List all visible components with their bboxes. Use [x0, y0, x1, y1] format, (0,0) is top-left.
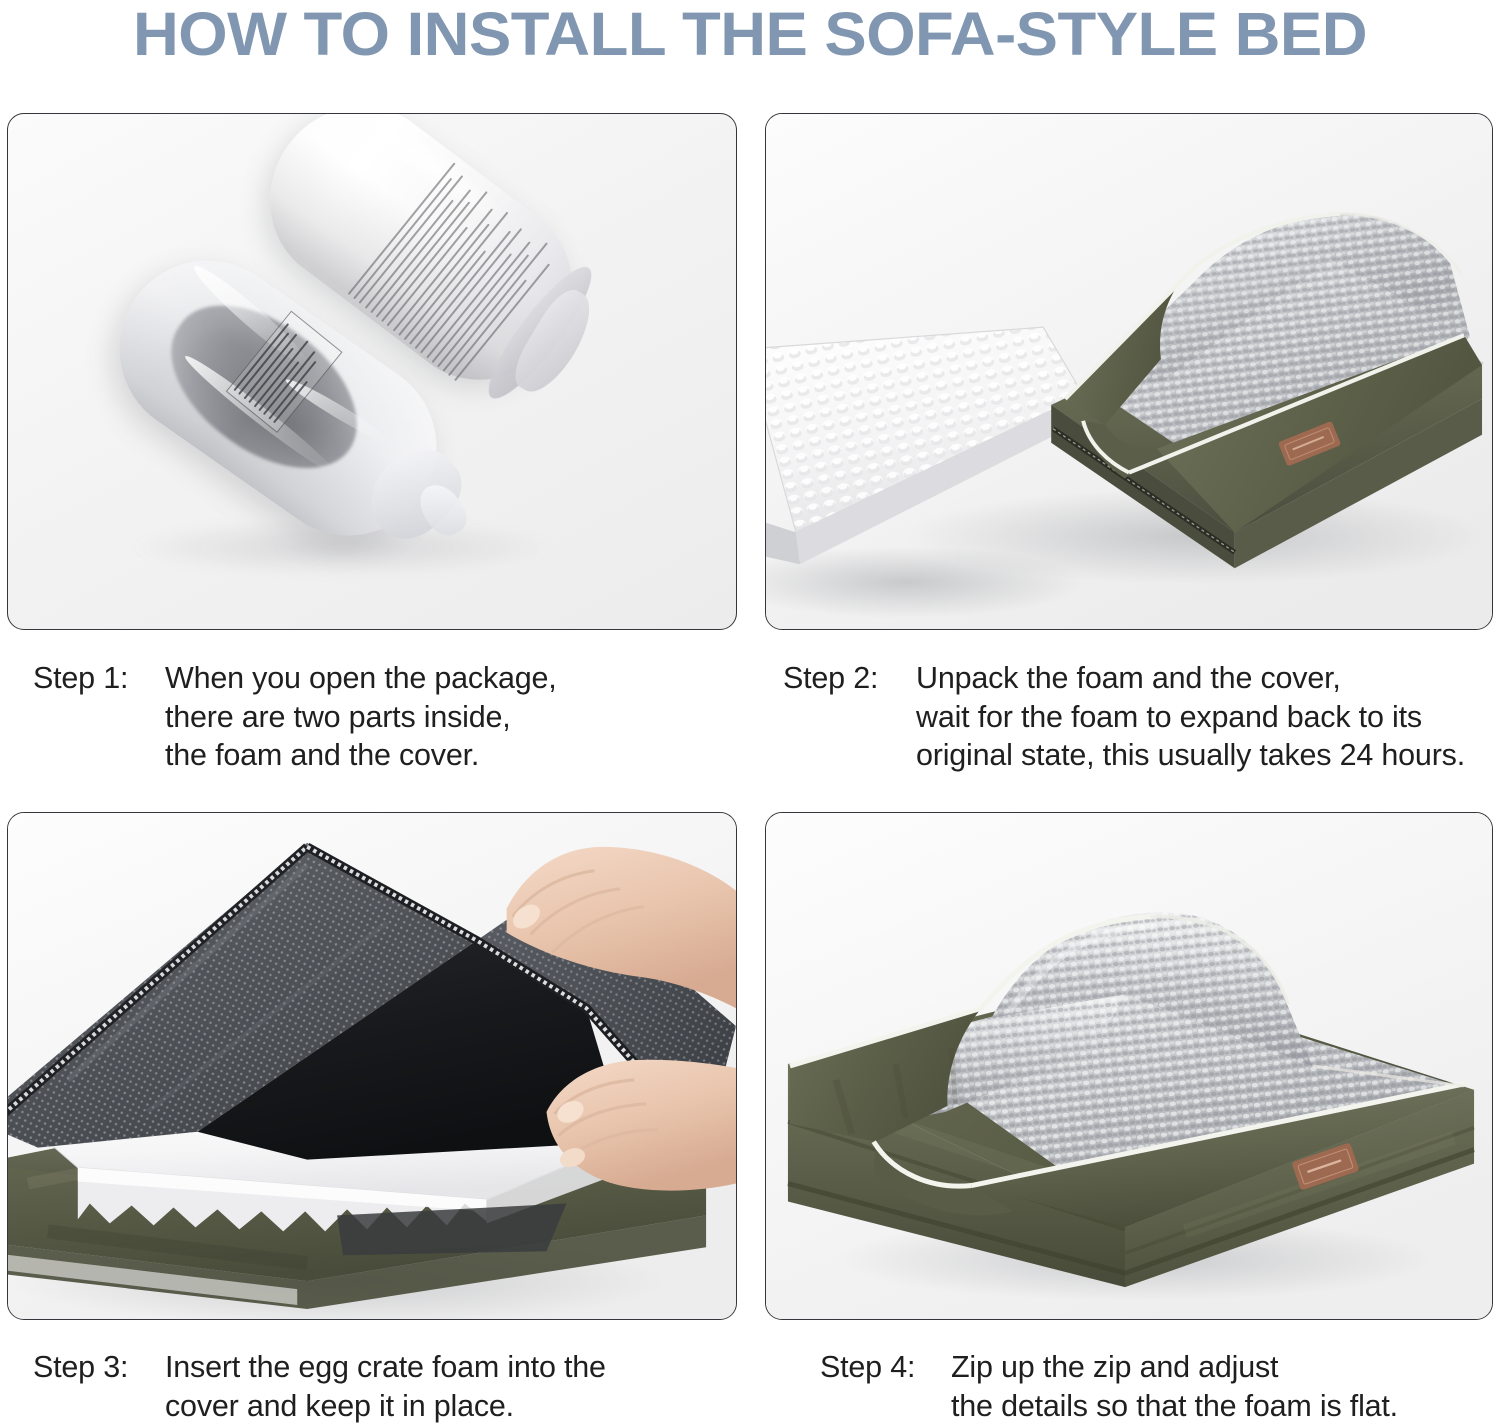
- step-3-label: Step 3:: [33, 1348, 165, 1387]
- step-1-text: When you open the package, there are two…: [165, 659, 557, 775]
- inserting-foam-photo: [8, 813, 736, 1319]
- step-3-text: Insert the egg crate foam into the cover…: [165, 1348, 606, 1425]
- step-2-label: Step 2:: [783, 659, 916, 698]
- page-title: HOW TO INSTALL THE SOFA-STYLE BED: [0, 0, 1500, 70]
- step-4-label: Step 4:: [820, 1348, 951, 1387]
- step-4-caption: Step 4: Zip up the zip and adjust the de…: [820, 1348, 1398, 1425]
- step-4-image-panel: [765, 812, 1493, 1320]
- step-2-text: Unpack the foam and the cover, wait for …: [916, 659, 1465, 775]
- finished-bed-photo: [766, 813, 1492, 1319]
- step-1-label: Step 1:: [33, 659, 165, 698]
- step-2-caption: Step 2: Unpack the foam and the cover, w…: [783, 659, 1465, 775]
- step-2-image-panel: [765, 113, 1493, 630]
- step-3-caption: Step 3: Insert the egg crate foam into t…: [33, 1348, 606, 1425]
- step-1-caption: Step 1: When you open the package, there…: [33, 659, 557, 775]
- step-1-image-panel: [7, 113, 737, 630]
- step-3-image-panel: [7, 812, 737, 1320]
- packaged-rolls-photo: [8, 114, 736, 629]
- unpacked-foam-and-cover-photo: [766, 114, 1492, 629]
- step-4-text: Zip up the zip and adjust the details so…: [951, 1348, 1398, 1425]
